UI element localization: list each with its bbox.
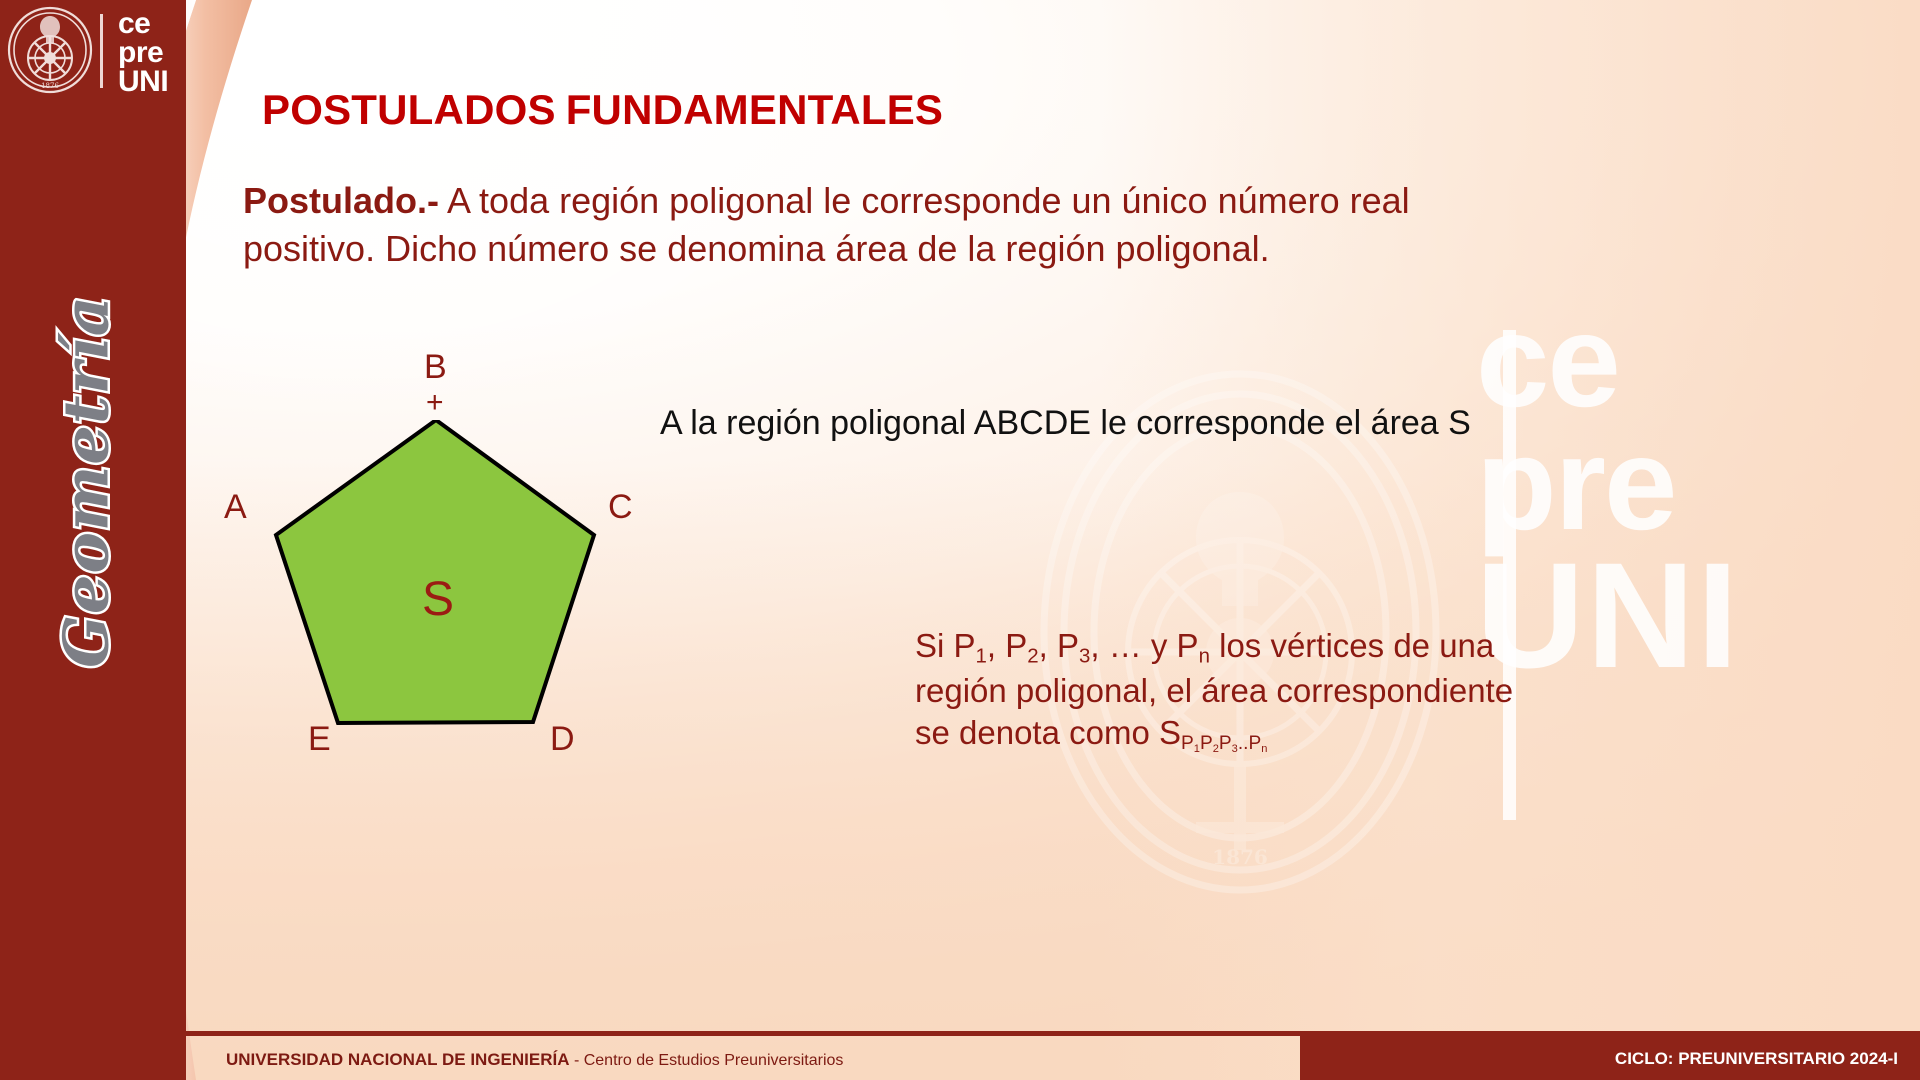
notation-line-3: se denota como SP1P2P3..Pn (915, 712, 1575, 757)
watermark-line-pre: pre (1476, 423, 1906, 546)
notation-l1a: Si P (915, 627, 976, 664)
footer-university: UNIVERSIDAD NACIONAL DE INGENIERÍA (226, 1050, 570, 1069)
postulate-paragraph: Postulado.- A toda región poligonal le c… (243, 177, 1503, 273)
logo-line-uni: UNI (118, 68, 168, 97)
notation-l1e: los vértices de una (1210, 627, 1494, 664)
logo-line-ce: ce (118, 10, 168, 39)
vertex-label-e: E (308, 720, 331, 759)
notation-l1d: , … y P (1090, 627, 1198, 664)
vertex-label-c: C (608, 488, 633, 527)
svg-text:1876: 1876 (41, 82, 59, 90)
vertex-label-a: A (224, 488, 247, 527)
pentagon-svg (230, 420, 700, 840)
notation-line-1: Si P1, P2, P3, … y Pn los vértices de un… (915, 625, 1575, 670)
footer-center: - Centro de Estudios Preuniversitarios (570, 1052, 844, 1069)
slide-canvas: 1876 ce pre UNI (0, 0, 1920, 1080)
pentagon-area-label: S (422, 572, 454, 627)
notation-area-subscript: P1P2P3..Pn (1181, 733, 1267, 754)
cepreuni-logo-text: ce pre UNI (118, 10, 168, 96)
footer-left-text: UNIVERSIDAD NACIONAL DE INGENIERÍA - Cen… (226, 1050, 843, 1070)
page-title-part2: FUNDAMENTALES (566, 86, 943, 133)
watermark-line-ce: ce (1476, 300, 1906, 423)
uni-seal-icon: 1876 (6, 6, 94, 94)
left-sidebar: 1876 ce pre UNI Geometría (0, 0, 186, 1080)
vertex-label-d: D (550, 720, 575, 759)
vertex-b-plus-mark: + (426, 388, 444, 418)
notation-line-2: región poligonal, el área correspondient… (915, 670, 1575, 712)
pentagon-figure: + B A C D E S (230, 420, 700, 840)
notation-l1c: , P (1039, 627, 1079, 664)
notation-paragraph: Si P1, P2, P3, … y Pn los vértices de un… (915, 625, 1575, 757)
notation-sub-2: 2 (1027, 645, 1038, 668)
notation-sub-n: n (1199, 645, 1210, 668)
subject-vertical-label: Geometría (50, 272, 123, 692)
notation-l1b: , P (987, 627, 1027, 664)
page-title: POSTULADOSFUNDAMENTALES (262, 86, 943, 134)
logo-line-pre: pre (118, 39, 168, 68)
figure-caption: A la región poligonal ABCDE le correspon… (660, 404, 1471, 443)
notation-sub-3: 3 (1079, 645, 1090, 668)
vertex-label-b: B (424, 348, 447, 387)
notation-sub-1: 1 (976, 645, 987, 668)
postulate-lead: Postulado.- (243, 180, 439, 221)
footer-cycle-text: CICLO: PREUNIVERSITARIO 2024-I (1615, 1049, 1898, 1069)
logo-divider (100, 14, 103, 88)
notation-l3a: se denota como S (915, 714, 1181, 751)
page-title-part1: POSTULADOS (262, 86, 556, 133)
svg-text:1876: 1876 (1212, 845, 1268, 869)
